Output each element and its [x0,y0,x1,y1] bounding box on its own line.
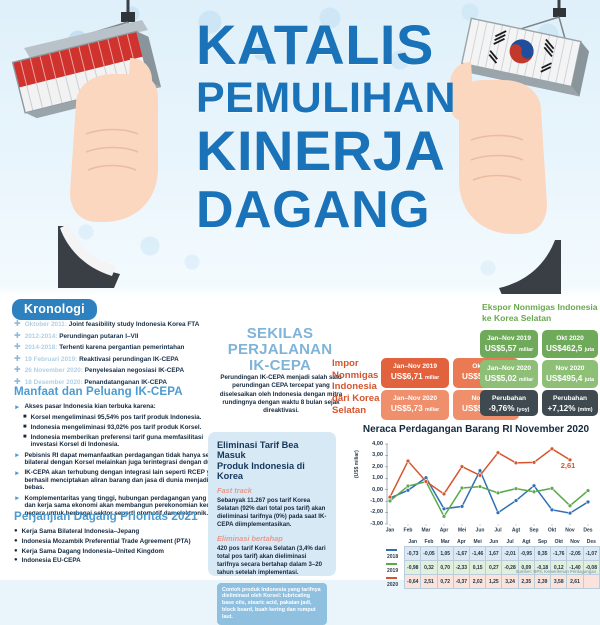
eliminasi-subtitle-fast-track: Fast track [217,486,327,495]
chart-title: Neraca Perdagangan Barang RI November 20… [356,424,596,435]
manfaat-subitem-text: Korsel mengeliminasi 95,54% pos tarif pr… [31,414,202,421]
table-cell: -2,01 [502,547,518,561]
prioritas-item-text: Indonesia EU-CEPA [22,557,81,564]
kronologi-item: ✚2012-2014: Perundingan putaran I–VII [14,332,219,341]
sekilas-body: Perundingan IK-CEPA menjadi salah satu p… [214,374,348,416]
table-cell: -2,33 [453,561,469,575]
svg-text:Des: Des [583,528,592,534]
table-col-header: Agt [518,538,534,547]
stat-value: -9,76% (yoy) [482,405,536,414]
table-cell: -1,76 [551,547,567,561]
kronologi-desc: Joint feasibility study Indonesia Korea … [69,321,200,328]
table-cell: 1,05 [437,547,453,561]
triangle-bullet-icon: ► [14,452,20,466]
table-cell: 2,39 [534,575,550,589]
kronologi-desc: Terhenti karena pergantian pemerintahan [59,344,184,351]
chart-y-tick: 1,00 [362,475,383,481]
stat-unit: (yoy) [517,407,530,413]
trade-balance-chart: (US$ miliar) 4,003,002,001,000,00-1,00-2… [356,438,596,546]
impor-heading: Impor Nonmigas Indonesia dari Korea Sela… [332,358,380,417]
square-bullet-icon: ■ [23,434,27,449]
table-cell: 0,35 [534,547,550,561]
kronologi-desc: Perundingan putaran I–VII [59,333,138,340]
stat-value: US$5,02 miliar [482,375,536,384]
kronologi-desc: Penyelesaian negosiasi IK-CEPA [85,367,184,374]
ekspor-stat-card: Perubahan-9,76% (yoy) [480,390,538,416]
svg-text:Jun: Jun [476,528,485,534]
square-bullet-icon: ■ [23,414,27,421]
impor-heading-line-2: Nonmigas [332,370,380,382]
sekilas-heading: SEKILAS PERJALANAN IK-CEPA [216,326,344,373]
chart-y-tick: 4,00 [362,441,383,447]
impor-heading-line-3: Indonesia [332,381,380,393]
stat-unit: (mtm) [578,407,593,413]
table-cell: 2,61 [567,575,583,589]
eliminasi-card: Eliminasi Tarif Bea Masuk Produk Indones… [208,432,336,576]
triangle-bullet-icon: ► [14,404,20,412]
chart-y-tick: -1,00 [362,498,383,504]
table-cell: 2,51 [421,575,437,589]
prioritas-item: ●Indonesia EU-CEPA [14,557,214,564]
round-bullet-icon: ● [14,557,18,564]
stat-unit: miliar [519,377,533,383]
stat-value: US$462,5 juta [544,345,596,354]
eliminasi-note: Contoh produk Indonesia yang tarifnya di… [217,583,327,625]
eliminasi-title-2: Produk Indonesia di Korea [217,461,327,482]
svg-text:Nov: Nov [565,528,575,534]
title-line-2: PEMULIHAN [196,77,526,119]
page-title: KATALIS PEMULIHAN KINERJA DAGANG [196,18,526,236]
impor-heading-line-5: Selatan [332,405,380,417]
eliminasi-subtitle-bertahap: Eliminasi bertahap [217,534,327,543]
manfaat-subitem: ■Indonesia mengeliminasi 93,02% pos tari… [23,424,224,431]
title-line-4: DAGANG [196,185,526,236]
svg-text:Mar: Mar [422,528,431,534]
manfaat-subitem: ■Indonesia memberikan preferensi tarif g… [23,434,224,449]
prioritas-item: ●Kerja Sama Dagang Indonesia–United King… [14,548,214,555]
manfaat-bullet: ►IK-CEPA akan terhubung dengan integrasi… [14,469,224,491]
kronologi-date: 2014-2018: [25,344,58,351]
chart-y-tick: -2,00 [362,509,383,515]
table-cell: 1,67 [486,547,502,561]
stat-label: Jan–Nov 2020 [482,365,536,372]
legend-year: 2019 [387,568,398,574]
table-cell: -0,73 [405,547,421,561]
table-col-header: Mar [437,538,453,547]
svg-text:Feb: Feb [404,528,413,534]
stat-unit: juta [585,377,594,383]
table-cell: -0,98 [405,561,421,575]
prioritas-item-text: Indonesia Mozambik Preferential Trade Ag… [22,538,191,545]
table-col-header: Apr [453,538,469,547]
stat-value: US$6,71 miliar [383,373,447,382]
round-bullet-icon: ● [14,548,18,555]
manfaat-subitem-text: Indonesia mengeliminasi 93,02% pos tarif… [31,424,202,431]
manfaat-section: Manfaat dan Peluang IK-CEPA ►Akses pasar… [14,385,224,520]
sekilas-line-2: PERJALANAN [216,342,344,358]
ekspor-stat-card: Perubahan+7,12% (mtm) [542,390,598,416]
table-col-header: Jun [486,538,502,547]
impor-stat-card: Jan–Nov 2019US$6,71 miliar [381,358,449,388]
table-row: 2020-0,642,510,72-0,372,021,253,242,352,… [381,575,600,589]
table-col-header: Feb [421,538,437,547]
table-row: 2018-0,73-0,051,05-1,67-1,461,67-2,01-0,… [381,547,600,561]
table-cell: -1,67 [453,547,469,561]
manfaat-bullet: ►Pebisnis RI dapat memanfaatkan perdagan… [14,452,224,467]
ekspor-stat-card: Jan–Nov 2020US$5,02 miliar [480,360,538,388]
manfaat-bullet-text: Pebisnis RI dapat memanfaatkan perdagang… [24,452,224,467]
prioritas-item: ●Kerja Sama Bilateral Indonesia–Jepang [14,528,214,535]
ekspor-stat-card: Nov 2020US$495,4 juta [542,360,598,388]
prioritas-heading: Perjanjian Dagang Prioritas 2021 [14,510,214,523]
table-cell: -1,46 [470,547,486,561]
eliminasi-paragraph-1: Sebanyak 11.267 pos tarif Korea Selatan … [217,497,327,529]
sekilas-line-3: IK-CEPA [216,358,344,374]
chart-y-tick: 3,00 [362,452,383,458]
table-cell: 0,72 [437,575,453,589]
ekspor-heading-line-2: ke Korea Selatan [482,313,600,324]
kronologi-badge: Kronologi [12,299,97,320]
manfaat-list: ►Akses pasar Indonesia kian terbuka kare… [14,403,224,517]
legend-line-swatch [386,563,397,565]
prioritas-item-text: Kerja Sama Dagang Indonesia–United Kingd… [22,548,164,555]
prioritas-section: Perjanjian Dagang Prioritas 2021 ●Kerja … [14,510,214,567]
infographic-canvas: KATALIS PEMULIHAN KINERJA DAGANG Kronolo… [0,0,600,580]
legend-year: 2018 [387,554,398,560]
impor-heading-line-1: Impor [332,358,380,370]
manfaat-subitem: ■Korsel mengeliminasi 95,54% pos tarif p… [23,414,224,421]
table-header-row: JanFebMarAprMeiJunJulAgtSepOktNovDes [381,538,600,547]
table-col-header: Des [583,538,599,547]
table-cell: 1,25 [486,575,502,589]
stat-unit: miliar [425,375,439,381]
kronologi-item: ✚Oktober 2011: Joint feasibility study I… [14,320,219,329]
ekspor-heading: Ekspor Nonmigas Indonesia ke Korea Selat… [482,302,600,323]
table-cell: -1,07 [583,547,599,561]
table-cell: -0,05 [421,547,437,561]
manfaat-sublist: ■Korsel mengeliminasi 95,54% pos tarif p… [23,414,224,448]
svg-text:Sep: Sep [529,528,538,534]
table-cell: -0,95 [518,547,534,561]
plus-icon: ✚ [14,343,21,351]
svg-text:Jan: Jan [386,528,395,534]
stat-label: Jan–Nov 2020 [383,395,447,402]
chart-y-tick: -3,00 [362,521,383,527]
svg-text:Jul: Jul [494,528,502,534]
stat-label: Jan–Nov 2019 [383,363,447,370]
table-cell: 3,24 [502,575,518,589]
stat-value: US$5,73 miliar [383,405,447,414]
stat-unit: miliar [425,407,439,413]
stat-label: Nov 2020 [544,365,596,372]
eliminasi-paragraph-2: 420 pos tarif Korea Selatan (3,4% dari t… [217,545,327,577]
stat-unit: juta [585,347,594,353]
plus-icon: ✚ [14,366,21,374]
stat-label: Jan–Nov 2019 [482,335,536,342]
source-note: Sumber: BPS, Kementerian Perdagangan [470,569,596,574]
kronologi-item: ✚19 Februari 2019: Reaktivasi perundinga… [14,355,219,364]
chart-y-axis-label: (US$ miliar) [354,450,360,478]
table-cell: -2,05 [567,547,583,561]
svg-text:Okt: Okt [548,528,557,534]
kronologi-date: 19 Februari 2019: [25,356,78,363]
triangle-bullet-icon: ► [14,470,20,492]
ekspor-stat-card: Okt 2020US$462,5 juta [542,330,598,358]
table-col-header: Okt [551,538,567,547]
manfaat-bullet-text: IK-CEPA akan terhubung dengan integrasi … [24,469,224,491]
impor-heading-line-4: dari Korea [332,393,380,405]
plus-icon: ✚ [14,332,21,340]
manfaat-heading: Manfaat dan Peluang IK-CEPA [14,385,224,398]
eliminasi-title-1: Eliminasi Tarif Bea Masuk [217,440,327,461]
stat-value: +7,12% (mtm) [544,405,596,414]
manfaat-bullet: ►Akses pasar Indonesia kian terbuka kare… [14,403,224,411]
title-line-3: KINERJA [196,124,526,179]
manfaat-subitem-text: Indonesia memberikan preferensi tarif gu… [31,434,224,449]
legend-line-swatch [386,549,397,551]
plus-icon: ✚ [14,320,21,328]
hand-left [58,48,188,288]
stat-value: US$495,4 juta [544,375,596,384]
svg-text:Agt: Agt [512,528,521,534]
kronologi-list: ✚Oktober 2011: Joint feasibility study I… [14,320,219,389]
table-row-legend: 2020 [381,575,405,589]
round-bullet-icon: ● [14,528,18,535]
svg-text:Mei: Mei [458,528,467,534]
table-body: 2018-0,73-0,051,05-1,67-1,461,67-2,01-0,… [381,547,600,589]
prioritas-item: ●Indonesia Mozambik Preferential Trade A… [14,538,214,545]
table-cell [583,575,599,589]
ekspor-heading-line-1: Ekspor Nonmigas Indonesia [482,302,600,313]
table-cell: 2,02 [470,575,486,589]
plus-icon: ✚ [14,355,21,363]
table-cell: -0,37 [453,575,469,589]
stat-label: Okt 2020 [544,335,596,342]
table-cell: 0,32 [421,561,437,575]
table-col-header: Jan [405,538,421,547]
manfaat-bullet-text: Akses pasar Indonesia kian terbuka karen… [24,403,155,411]
table-col-header: Sep [534,538,550,547]
table-cell: 0,70 [437,561,453,575]
round-bullet-icon: ● [14,538,18,545]
chart-plot-area: JanFebMarAprMeiJunJulAgtSepOktNovDes2,61 [384,438,596,538]
chart-y-tick: 2,00 [362,464,383,470]
stat-unit: miliar [519,347,533,353]
table-cell: 2,35 [518,575,534,589]
kronologi-date: Oktober 2011: [25,321,67,328]
table-row-legend: 2019 [381,561,405,575]
prioritas-list: ●Kerja Sama Bilateral Indonesia–Jepang●I… [14,528,214,565]
table-cell: 3,58 [551,575,567,589]
square-bullet-icon: ■ [23,424,27,431]
kronologi-date: 2012-2014: [25,333,58,340]
table-col-header: Nov [567,538,583,547]
svg-text:Apr: Apr [440,528,449,534]
sekilas-line-1: SEKILAS [216,326,344,342]
ekspor-stat-card: Jan–Nov 2019US$5,57 miliar [480,330,538,358]
table-col-header: Jul [502,538,518,547]
kronologi-desc: Reaktivasi perundingan IK-CEPA [79,356,179,363]
table-row-legend: 2018 [381,547,405,561]
kronologi-date: 26 November 2020: [25,367,83,374]
title-line-1: KATALIS [196,18,526,73]
stat-label: Perubahan [482,395,536,402]
table-cell: -0,64 [405,575,421,589]
table-col-header: Mei [470,538,486,547]
table-corner [381,538,405,547]
chart-data-table: JanFebMarAprMeiJunJulAgtSepOktNovDes 201… [381,538,600,589]
prioritas-item-text: Kerja Sama Bilateral Indonesia–Jepang [22,528,140,535]
legend-line-swatch [386,577,397,579]
chart-y-tick: 0,00 [362,487,383,493]
svg-text:2,61: 2,61 [561,461,576,470]
impor-stat-card: Jan–Nov 2020US$5,73 miliar [381,390,449,420]
kronologi-item: ✚2014-2018: Terhenti karena pergantian p… [14,343,219,352]
stat-value: US$5,57 miliar [482,345,536,354]
legend-year: 2020 [387,582,398,588]
stat-label: Perubahan [544,395,596,402]
kronologi-item: ✚26 November 2020: Penyelesaian negosias… [14,366,219,375]
